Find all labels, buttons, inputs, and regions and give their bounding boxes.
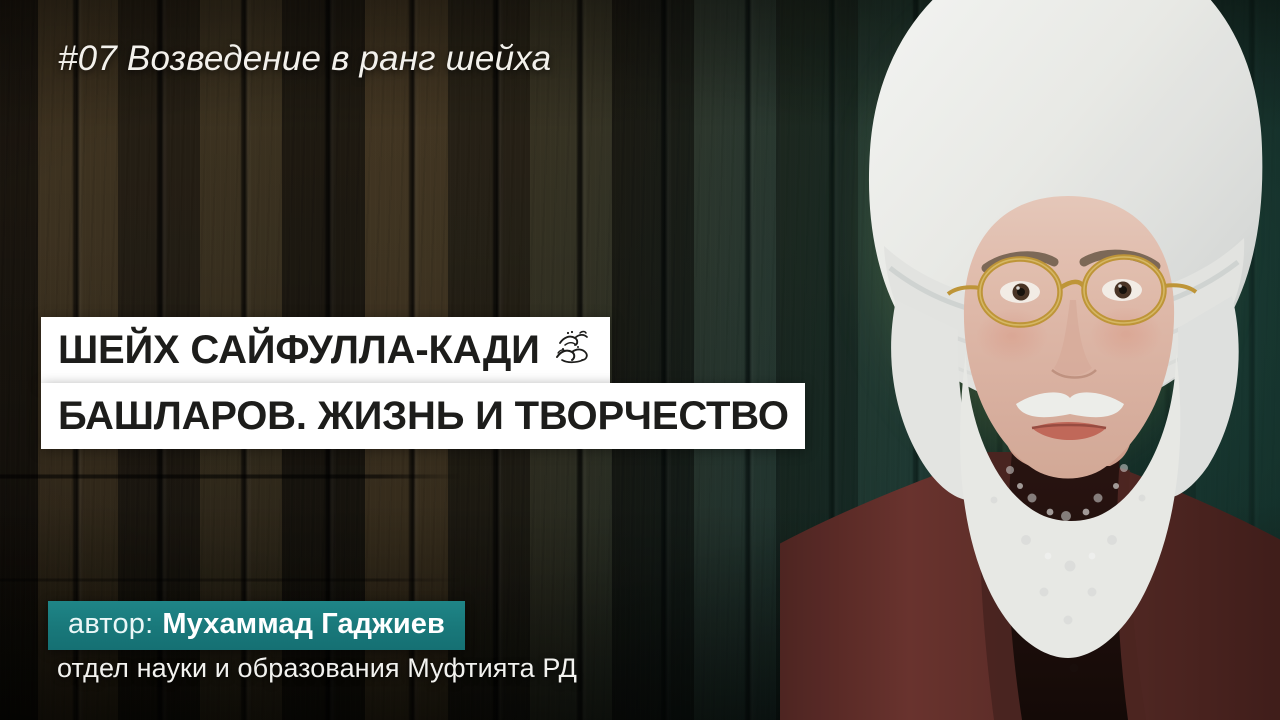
author-label: автор:: [68, 608, 153, 641]
main-title-text-2: БАШЛАРОВ. ЖИЗНЬ И ТВОРЧЕСТВО: [58, 388, 789, 444]
portrait-container: [760, 0, 1280, 720]
main-title-block: ШЕЙХ САЙФУЛЛА-КАДИ: [41, 317, 805, 449]
slide-canvas: #07 Возведение в ранг шейха ШЕЙХ САЙФУЛЛ…: [0, 0, 1280, 720]
author-name: Мухаммад Гаджиев: [162, 608, 445, 641]
organization-line: отдел науки и образования Муфтията РД: [57, 653, 577, 684]
main-title-bar-1: ШЕЙХ САЙФУЛЛА-КАДИ: [41, 317, 610, 383]
arabic-honorific-seal: [552, 327, 592, 369]
portrait-image: [780, 0, 1280, 720]
main-title-row-1: ШЕЙХ САЙФУЛЛА-КАДИ: [41, 317, 805, 383]
episode-title: #07 Возведение в ранг шейха: [58, 39, 551, 79]
author-badge: автор: Мухаммад Гаджиев: [48, 601, 465, 650]
main-title-row-2: БАШЛАРОВ. ЖИЗНЬ И ТВОРЧЕСТВО: [41, 383, 805, 449]
main-title-text-1: ШЕЙХ САЙФУЛЛА-КАДИ: [58, 322, 540, 378]
main-title-bar-2: БАШЛАРОВ. ЖИЗНЬ И ТВОРЧЕСТВО: [41, 383, 805, 449]
